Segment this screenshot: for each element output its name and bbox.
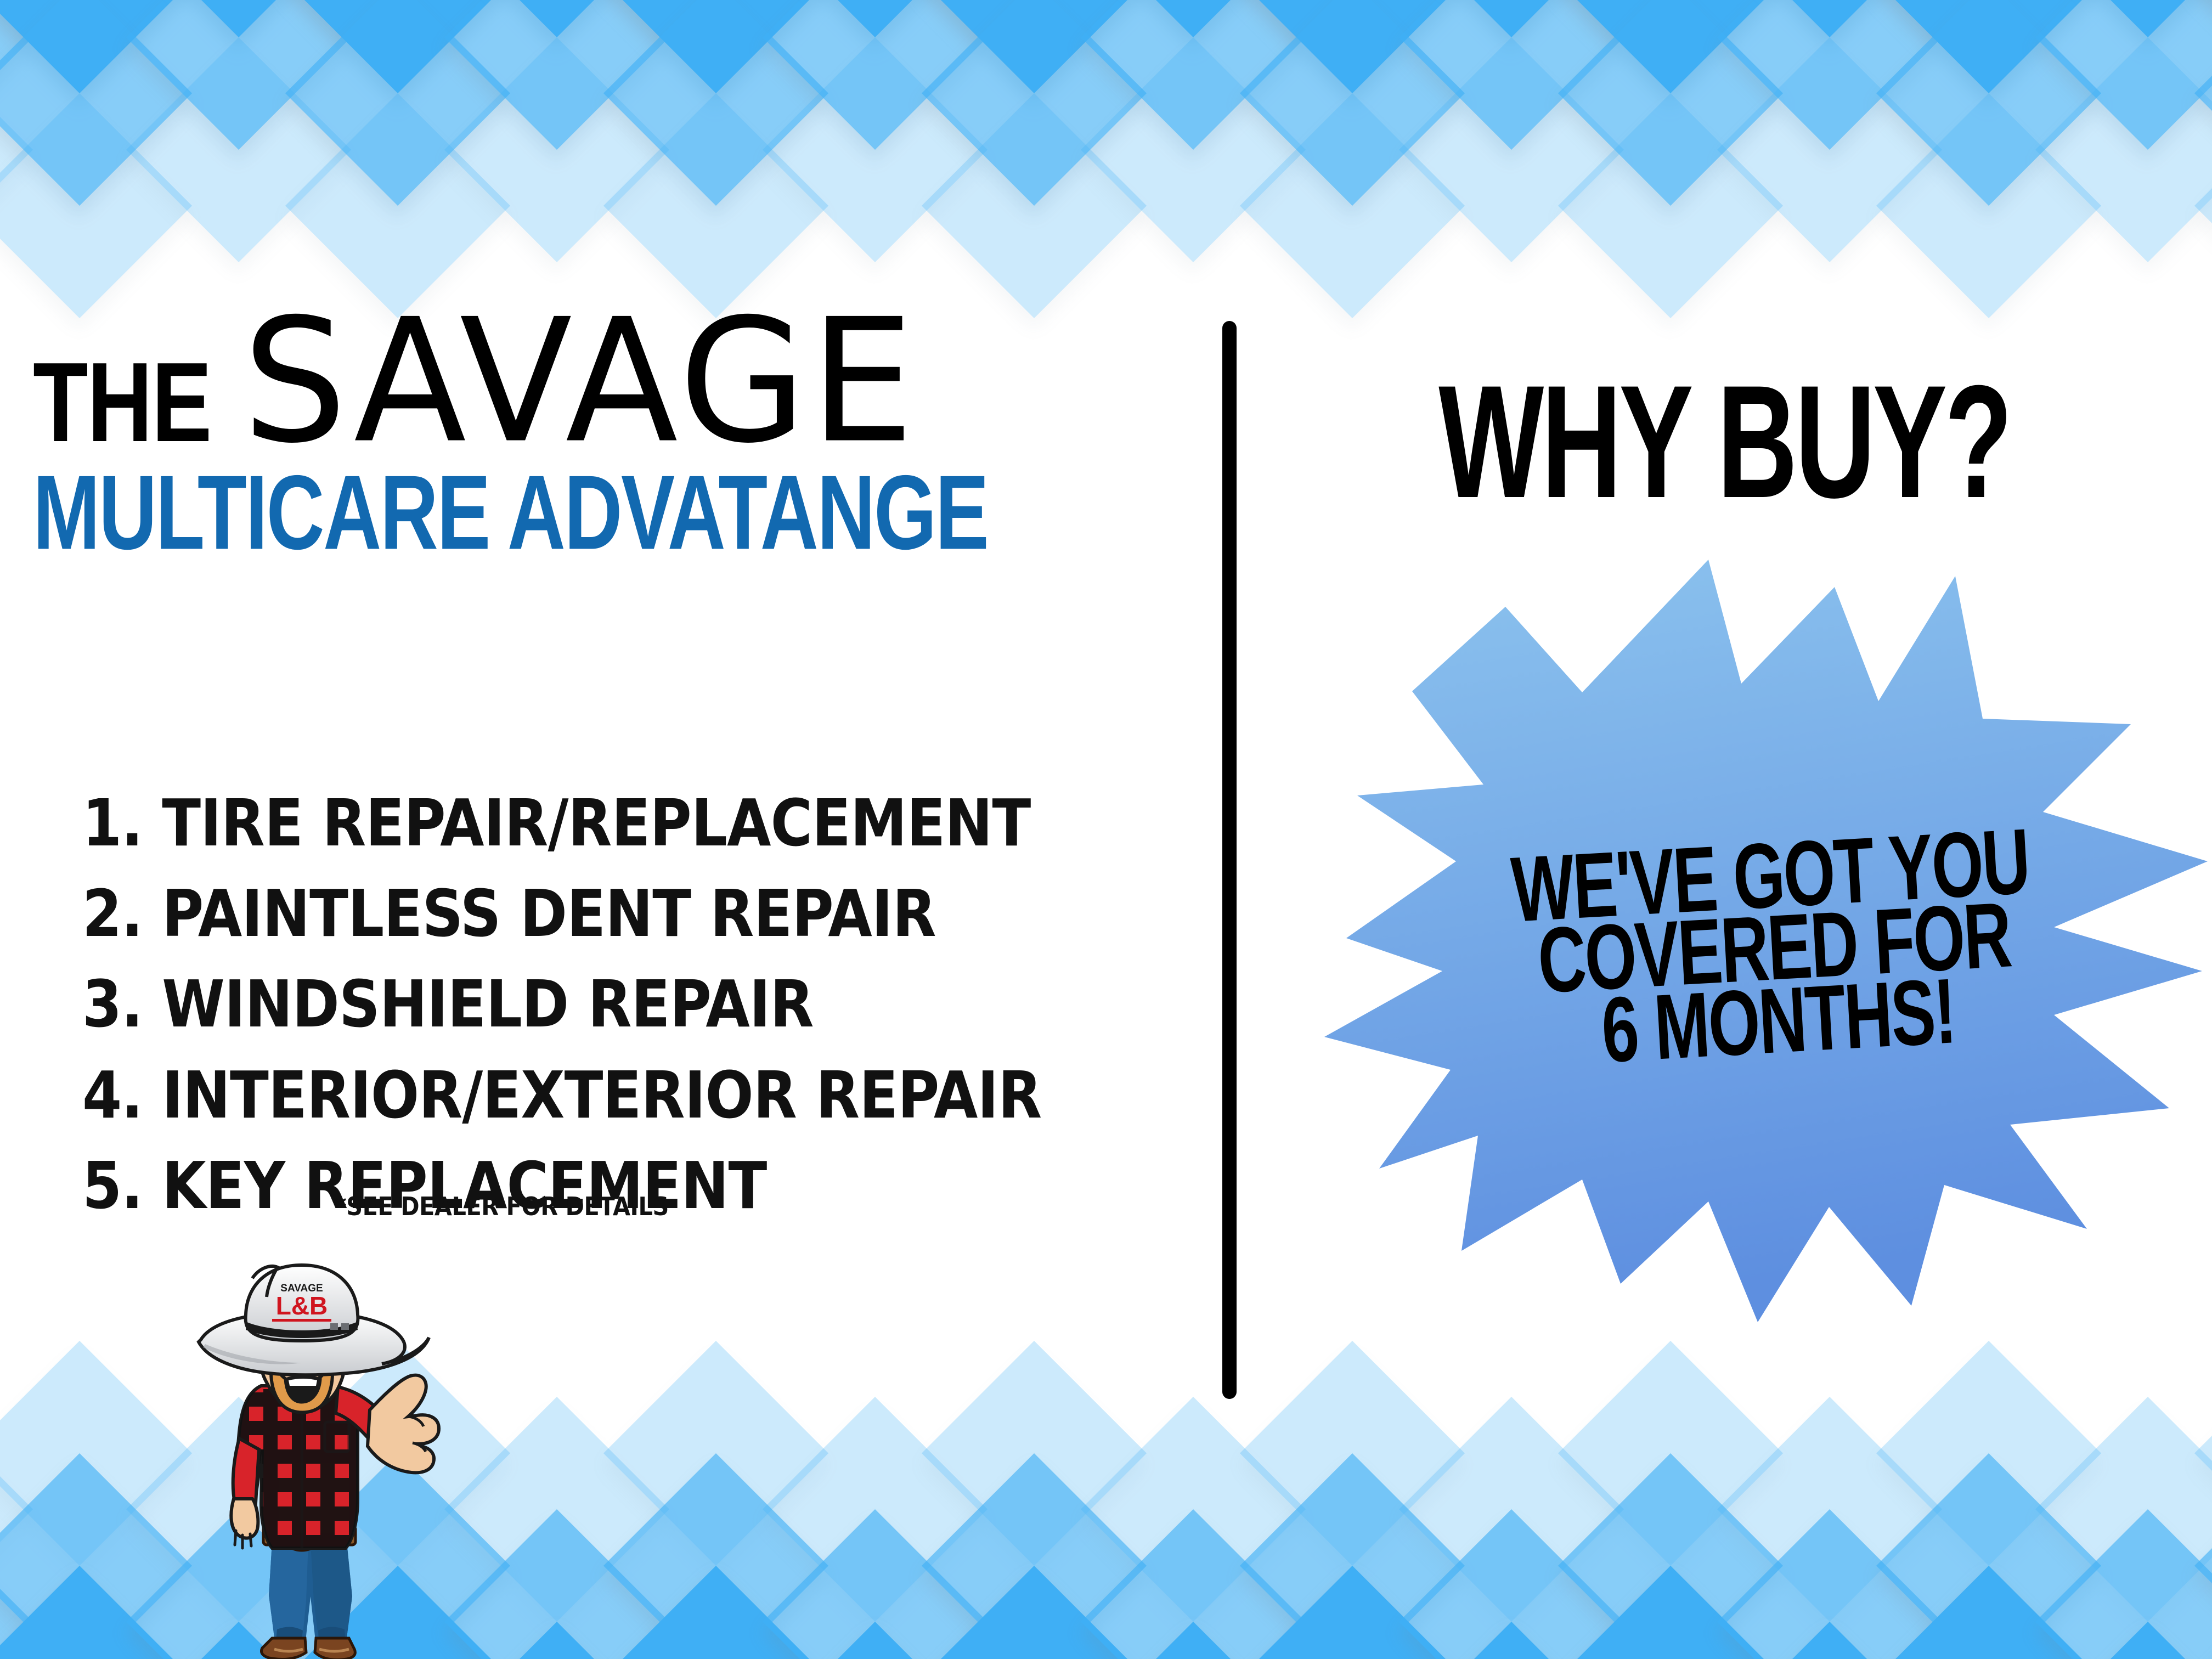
- right-panel: WHY BUY? WE'VE GOT YOU COVERED FOR 6 MON…: [1237, 0, 2212, 1659]
- mascot-boots: [262, 1638, 356, 1659]
- list-item: 3. WINDSHIELD REPAIR: [82, 959, 1041, 1049]
- headline-row-primary: THE SAVAGE: [33, 313, 1180, 450]
- why-buy-heading: WHY BUY?: [1324, 368, 2124, 515]
- headline-block: THE SAVAGE MULTICARE ADVATANGE: [33, 313, 1180, 554]
- starburst-badge: WE'VE GOT YOU COVERED FOR 6 MONTHS!: [1324, 554, 2212, 1322]
- brand-wordmark: SAVAGE: [242, 313, 918, 450]
- list-item: 4. INTERIOR/EXTERIOR REPAIR: [82, 1050, 1041, 1141]
- mascot-illustration: SAVAGE L&B: [165, 1245, 455, 1659]
- mascot-jeans: [269, 1542, 352, 1646]
- headline-subtitle: MULTICARE ADVATANGE: [33, 460, 1013, 566]
- left-panel: THE SAVAGE MULTICARE ADVATANGE 1. TIRE R…: [0, 0, 1222, 1659]
- disclaimer-text: *SEE DEALER FOR DETAILS: [335, 1192, 669, 1221]
- list-item: 2. PAINTLESS DENT REPAIR: [82, 868, 1041, 959]
- hat-logo-main-text: L&B: [276, 1291, 328, 1320]
- mascot-cowboy-hat: SAVAGE L&B: [199, 1265, 429, 1375]
- service-list: 1. TIRE REPAIR/REPLACEMENT 2. PAINTLESS …: [82, 778, 1172, 1231]
- headline-prefix: THE: [33, 355, 211, 450]
- promotional-poster: THE SAVAGE MULTICARE ADVATANGE 1. TIRE R…: [0, 0, 2212, 1659]
- starburst-text: WE'VE GOT YOU COVERED FOR 6 MONTHS!: [1319, 815, 2212, 1082]
- panel-divider: [1222, 321, 1237, 1399]
- list-item: 1. TIRE REPAIR/REPLACEMENT: [82, 778, 1041, 868]
- mascot-left-arm: [231, 1438, 259, 1548]
